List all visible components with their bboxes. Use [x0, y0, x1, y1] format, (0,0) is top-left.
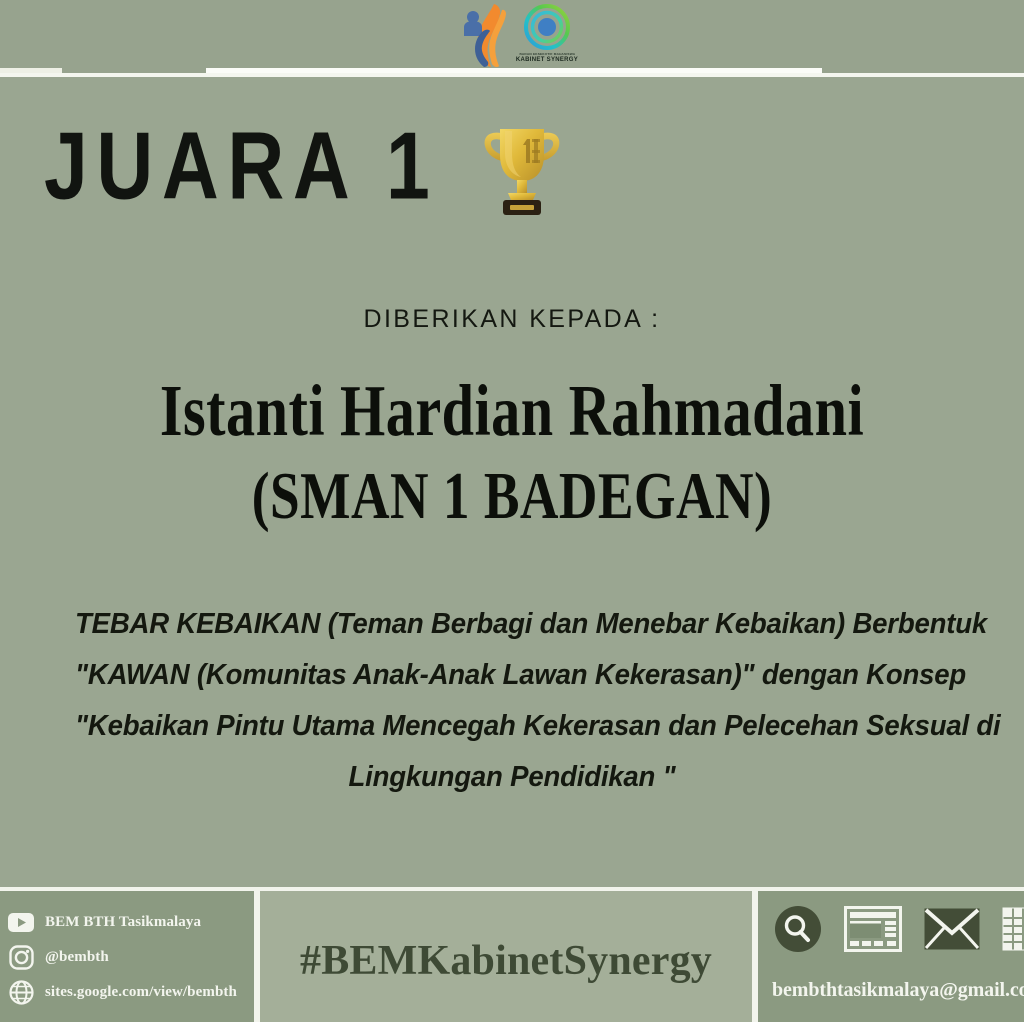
award-description: TEBAR KEBAIKAN (Teman Berbagi dan Meneba… [52, 599, 972, 803]
youtube-icon [8, 910, 34, 936]
social-row-instagram[interactable]: @bembth [8, 940, 254, 975]
hashtag-label: #BEMKabinetSynergy [300, 937, 712, 985]
kabinet-synergy-ring-logo [522, 2, 572, 52]
social-label-instagram: @bembth [45, 949, 109, 966]
recipient-school: (SMAN 1 BADEGAN) [15, 457, 1008, 534]
award-description-line: Lingkungan Pendidikan " [75, 752, 949, 803]
calendar-icon[interactable] [1002, 907, 1024, 951]
award-description-line: "KAWAN (Komunitas Anak-Anak Lawan Kekera… [75, 650, 949, 701]
webpage-icon[interactable] [844, 906, 902, 952]
globe-icon [8, 980, 34, 1006]
recipient-name: Istanti Hardian Rahmadani [15, 369, 1008, 453]
logo-caption-small: BADAN EKSEKUTIF MAHASISWA [519, 53, 575, 57]
social-row-website[interactable]: sites.google.com/view/bembth [8, 975, 254, 1010]
logo-group: BADAN EKSEKUTIF MAHASISWA KABINET SYNERG… [458, 2, 578, 68]
rank-label: JUARA 1 [44, 119, 438, 214]
given-to-label: DIBERIKAN KEPADA : [0, 305, 1024, 334]
footer-social-panel: BEM BTH Tasikmalaya @bembth [0, 891, 254, 1022]
envelope-icon[interactable] [924, 907, 980, 951]
footer-icon-row [774, 905, 1024, 953]
footer-bar: BEM BTH Tasikmalaya @bembth [0, 887, 1024, 1022]
social-row-youtube[interactable]: BEM BTH Tasikmalaya [8, 905, 254, 940]
trophy-icon [479, 119, 565, 219]
logo-caption: KABINET SYNERGY [516, 57, 578, 64]
search-icon[interactable] [774, 905, 822, 953]
instagram-icon [8, 945, 34, 971]
kabinet-synergy-logo-block: BADAN EKSEKUTIF MAHASISWA KABINET SYNERG… [516, 2, 578, 63]
footer-hashtag-panel: #BEMKabinetSynergy [260, 891, 752, 1022]
rank-row: JUARA 1 [44, 115, 565, 219]
footer-contact-panel: bembthtasikmalaya@gmail.com [758, 891, 1024, 1022]
certificate-body: JUARA 1 [0, 77, 1024, 887]
social-label-youtube: BEM BTH Tasikmalaya [45, 914, 201, 931]
certificate-canvas: BADAN EKSEKUTIF MAHASISWA KABINET SYNERG… [0, 0, 1024, 1022]
award-description-line: "Kebaikan Pintu Utama Mencegah Kekerasan… [75, 701, 949, 752]
header-logo-bar: BADAN EKSEKUTIF MAHASISWA KABINET SYNERG… [0, 0, 1024, 73]
bem-flame-logo [458, 2, 512, 68]
social-label-website: sites.google.com/view/bembth [45, 984, 237, 1001]
award-description-line: TEBAR KEBAIKAN (Teman Berbagi dan Meneba… [75, 599, 949, 650]
contact-email: bembthtasikmalaya@gmail.com [772, 979, 1024, 1002]
